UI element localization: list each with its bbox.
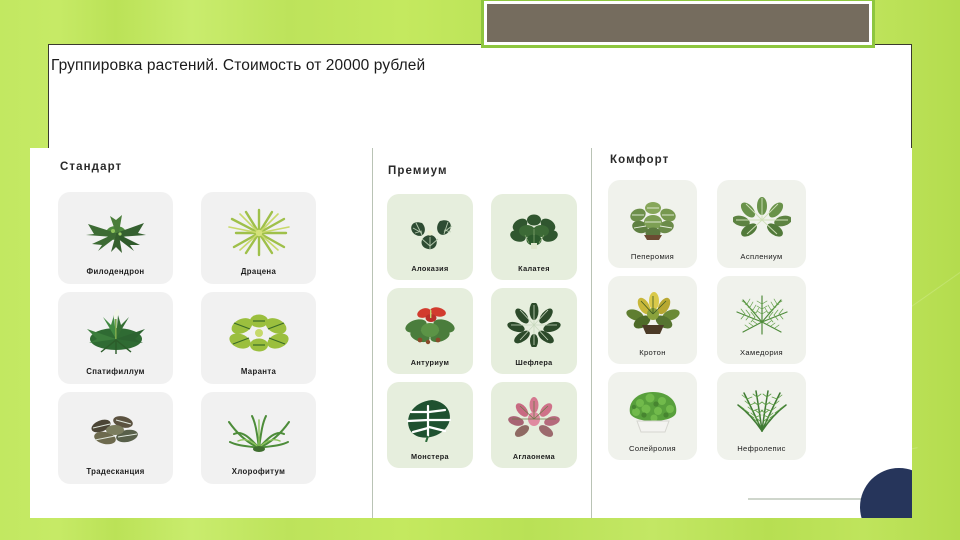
plant-name: Антуриум <box>411 358 450 367</box>
plant-dracaena-icon <box>201 192 316 267</box>
plant-name: Алоказия <box>411 264 448 273</box>
plant-card[interactable]: Традесканция <box>58 392 173 484</box>
plant-card[interactable]: Маранта <box>201 292 316 384</box>
plant-soleirolia-icon <box>608 372 697 444</box>
plant-name: Аглаонема <box>513 452 555 461</box>
plant-nephrolepis-icon <box>717 372 806 444</box>
plant-catalog-image: Стандарт <box>30 148 912 518</box>
plant-monstera-icon <box>387 382 473 452</box>
plant-name: Маранта <box>241 367 276 376</box>
plant-spathiphyllum-icon <box>58 292 173 367</box>
plant-croton-icon <box>608 276 697 348</box>
plant-anthurium-icon <box>387 288 473 358</box>
plant-name: Хамедория <box>740 348 783 357</box>
plant-card[interactable]: Пеперомия <box>608 180 697 268</box>
plant-grid-standart: Филодендрон <box>58 192 316 484</box>
plant-maranta-icon <box>201 292 316 367</box>
plant-name: Калатея <box>518 264 550 273</box>
plant-chlorophytum-icon <box>201 392 316 467</box>
plant-name: Драцена <box>241 267 276 276</box>
plant-name: Шефлера <box>515 358 552 367</box>
group-title-standart: Стандарт <box>60 161 122 173</box>
plant-name: Солейролия <box>629 444 676 453</box>
group-panel-standart: Стандарт <box>30 148 372 518</box>
plant-card[interactable]: Хлорофитум <box>201 392 316 484</box>
plant-aglaonema-icon <box>491 382 577 452</box>
plant-grid-premium: Алоказия <box>387 194 577 468</box>
header-photo-fill <box>487 4 869 42</box>
plant-schefflera-icon <box>491 288 577 358</box>
group-title-premium: Премиум <box>388 165 448 177</box>
slide-title: Группировка растений. Стоимость от 20000… <box>51 57 425 75</box>
plant-peperomia-icon <box>608 180 697 252</box>
plant-name: Кротон <box>639 348 666 357</box>
plant-card[interactable]: Драцена <box>201 192 316 284</box>
presentation-slide: Группировка растений. Стоимость от 20000… <box>0 0 960 540</box>
plant-calathea-icon <box>491 194 577 264</box>
plant-name: Филодендрон <box>87 267 145 276</box>
group-title-comfort: Комфорт <box>610 154 669 166</box>
header-photo-placeholder <box>481 0 875 48</box>
plant-name: Монстера <box>411 452 449 461</box>
plant-card[interactable]: Нефролепис <box>717 372 806 460</box>
plant-name: Нефролепис <box>737 444 786 453</box>
plant-card[interactable]: Хамедория <box>717 276 806 364</box>
plant-card[interactable]: Аглаонема <box>491 382 577 468</box>
plant-grid-comfort: Пеперомия <box>608 180 806 460</box>
group-panel-premium: Премиум <box>372 148 592 518</box>
plant-philodendron-icon <box>58 192 173 267</box>
plant-name: Пеперомия <box>631 252 674 261</box>
plant-chamaedorea-icon <box>717 276 806 348</box>
plant-tradescantia-icon <box>58 392 173 467</box>
plant-name: Традесканция <box>86 467 144 476</box>
plant-alocasia-icon <box>387 194 473 264</box>
plant-card[interactable]: Асплениум <box>717 180 806 268</box>
group-panel-comfort: Комфорт <box>592 148 912 518</box>
plant-card[interactable]: Антуриум <box>387 288 473 374</box>
plant-card[interactable]: Спатифиллум <box>58 292 173 384</box>
plant-asplenium-icon <box>717 180 806 252</box>
plant-card[interactable]: Шефлера <box>491 288 577 374</box>
plant-card[interactable]: Алоказия <box>387 194 473 280</box>
plant-card[interactable]: Калатея <box>491 194 577 280</box>
plant-name: Асплениум <box>740 252 782 261</box>
plant-name: Хлорофитум <box>232 467 285 476</box>
plant-card[interactable]: Монстера <box>387 382 473 468</box>
plant-card[interactable]: Солейролия <box>608 372 697 460</box>
plant-card[interactable]: Филодендрон <box>58 192 173 284</box>
plant-card[interactable]: Кротон <box>608 276 697 364</box>
plant-name: Спатифиллум <box>86 367 145 376</box>
catalog-panels: Стандарт <box>30 148 912 518</box>
